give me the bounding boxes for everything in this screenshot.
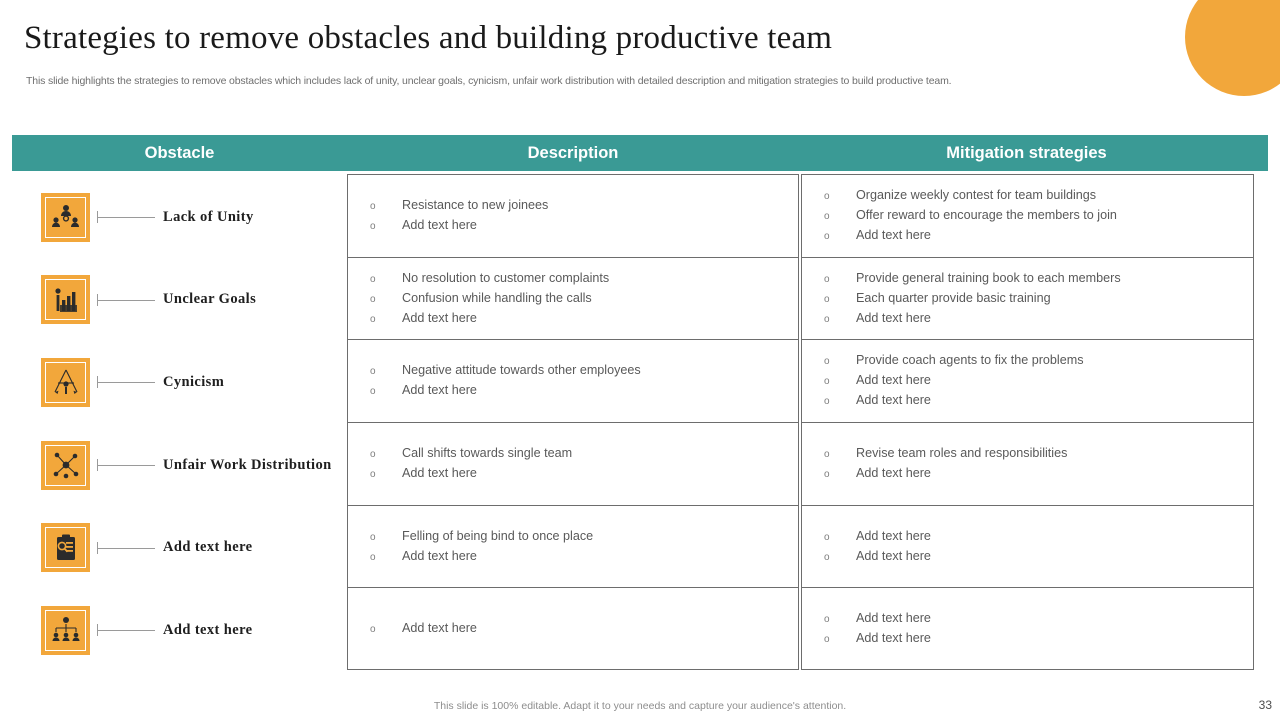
bullet-item: oAdd text here <box>824 629 1253 649</box>
bullet-text: Confusion while handling the calls <box>402 289 592 307</box>
bullet-item: oAdd text here <box>824 371 1253 391</box>
bullet-marker-icon: o <box>370 466 402 484</box>
team-hierarchy-icon <box>41 193 90 242</box>
bullet-item: oOffer reward to encourage the members t… <box>824 206 1253 226</box>
obstacle-label: Add text here <box>163 622 253 639</box>
description-cell: oResistance to new joineesoAdd text here <box>347 174 799 257</box>
bullet-text: Add text here <box>402 619 477 637</box>
description-cell: oNegative attitude towards other employe… <box>347 339 799 422</box>
mitigation-cell: oOrganize weekly contest for team buildi… <box>801 174 1254 257</box>
bullet-marker-icon: o <box>824 311 856 329</box>
bullet-text: Add text here <box>856 527 931 545</box>
column-header-obstacle: Obstacle <box>12 144 347 163</box>
bullet-marker-icon: o <box>824 353 856 371</box>
bullet-marker-icon: o <box>370 446 402 464</box>
bullet-marker-icon: o <box>824 271 856 289</box>
bullet-text: Add text here <box>402 309 477 327</box>
bullet-marker-icon: o <box>370 549 402 567</box>
obstacle-label: Lack of Unity <box>163 209 254 226</box>
connector-line <box>97 294 155 306</box>
bullet-text: Add text here <box>856 226 931 244</box>
bullet-item: oRevise team roles and responsibilities <box>824 444 1253 464</box>
org-chart-icon <box>41 606 90 655</box>
bullet-text: Offer reward to encourage the members to… <box>856 206 1117 224</box>
bullet-item: oProvide general training book to each m… <box>824 269 1253 289</box>
bullet-item: oProvide coach agents to fix the problem… <box>824 351 1253 371</box>
bullet-marker-icon: o <box>824 373 856 391</box>
bullet-item: oNo resolution to customer complaints <box>370 269 798 289</box>
bullet-marker-icon: o <box>370 383 402 401</box>
page-title: Strategies to remove obstacles and build… <box>24 20 832 57</box>
bullet-marker-icon: o <box>824 208 856 226</box>
bullet-marker-icon: o <box>824 466 856 484</box>
bullet-marker-icon: o <box>370 218 402 236</box>
bullet-text: Negative attitude towards other employee… <box>402 361 641 379</box>
network-nodes-icon <box>41 441 90 490</box>
obstacle-label: Unclear Goals <box>163 291 256 308</box>
bullet-marker-icon: o <box>370 529 402 547</box>
bullet-item: oAdd text here <box>824 391 1253 411</box>
bullet-item: oAdd text here <box>824 547 1253 567</box>
obstacle-row: Cynicism <box>12 341 347 424</box>
bullet-marker-icon: o <box>370 621 402 639</box>
description-cell: oCall shifts towards single teamoAdd tex… <box>347 422 799 505</box>
bullet-marker-icon: o <box>824 631 856 649</box>
bullet-text: Organize weekly contest for team buildin… <box>856 186 1096 204</box>
bullet-text: Provide general training book to each me… <box>856 269 1121 287</box>
obstacle-row: Lack of Unity <box>12 176 347 259</box>
bullet-text: Add text here <box>856 629 931 647</box>
bullet-item: oResistance to new joinees <box>370 196 798 216</box>
bullet-marker-icon: o <box>824 228 856 246</box>
bullet-text: Provide coach agents to fix the problems <box>856 351 1084 369</box>
bullet-item: oAdd text here <box>824 309 1253 329</box>
bullet-marker-icon: o <box>370 363 402 381</box>
table-header-bar: Obstacle Description Mitigation strategi… <box>12 135 1268 171</box>
bullet-item: oConfusion while handling the calls <box>370 289 798 309</box>
bullet-text: Add text here <box>402 547 477 565</box>
obstacle-row: Add text here <box>12 589 347 672</box>
obstacle-row: Unclear Goals <box>12 259 347 342</box>
bullet-item: oAdd text here <box>370 216 798 236</box>
bullet-text: Add text here <box>856 609 931 627</box>
bullet-text: Add text here <box>856 391 931 409</box>
bullet-item: oOrganize weekly contest for team buildi… <box>824 186 1253 206</box>
description-cell: oAdd text here <box>347 587 799 670</box>
bullet-marker-icon: o <box>824 393 856 411</box>
bullet-text: Add text here <box>856 309 931 327</box>
bullet-item: oAdd text here <box>370 547 798 567</box>
bullet-item: oAdd text here <box>370 619 798 639</box>
description-cell: oNo resolution to customer complaintsoCo… <box>347 257 799 340</box>
connector-line <box>97 459 155 471</box>
bullet-marker-icon: o <box>370 198 402 216</box>
connector-line <box>97 376 155 388</box>
bullet-text: Add text here <box>402 216 477 234</box>
bullet-text: Add text here <box>402 381 477 399</box>
bullet-marker-icon: o <box>370 311 402 329</box>
mitigation-column: oOrganize weekly contest for team buildi… <box>801 174 1254 670</box>
obstacle-row: Add text here <box>12 506 347 589</box>
footer-note: This slide is 100% editable. Adapt it to… <box>0 700 1280 712</box>
bullet-item: oAdd text here <box>370 309 798 329</box>
bullet-item: oAdd text here <box>824 527 1253 547</box>
bullet-text: Call shifts towards single team <box>402 444 572 462</box>
bullet-item: oAdd text here <box>370 464 798 484</box>
mitigation-cell: oProvide coach agents to fix the problem… <box>801 339 1254 422</box>
bullet-text: Add text here <box>856 547 931 565</box>
bullet-item: oEach quarter provide basic training <box>824 289 1253 309</box>
bullet-text: Add text here <box>856 371 931 389</box>
obstacle-label: Cynicism <box>163 374 224 391</box>
mitigation-cell: oProvide general training book to each m… <box>801 257 1254 340</box>
person-arrows-icon <box>41 358 90 407</box>
decorative-circle <box>1185 0 1280 96</box>
bullet-item: oAdd text here <box>370 381 798 401</box>
connector-line <box>97 542 155 554</box>
bullet-marker-icon: o <box>824 291 856 309</box>
bullet-text: Each quarter provide basic training <box>856 289 1051 307</box>
bullet-item: oCall shifts towards single team <box>370 444 798 464</box>
bullet-text: Felling of being bind to once place <box>402 527 593 545</box>
bullet-marker-icon: o <box>824 529 856 547</box>
bullet-marker-icon: o <box>370 271 402 289</box>
bullet-item: oNegative attitude towards other employe… <box>370 361 798 381</box>
bullet-item: oAdd text here <box>824 609 1253 629</box>
bullet-item: oAdd text here <box>824 226 1253 246</box>
bullet-text: Add text here <box>402 464 477 482</box>
connector-line <box>97 211 155 223</box>
connector-line <box>97 624 155 636</box>
mitigation-cell: oAdd text hereoAdd text here <box>801 505 1254 588</box>
bullet-marker-icon: o <box>370 291 402 309</box>
description-cell: oFelling of being bind to once placeoAdd… <box>347 505 799 588</box>
bullet-marker-icon: o <box>824 549 856 567</box>
page-number: 33 <box>1259 698 1272 712</box>
bullet-text: Add text here <box>856 464 931 482</box>
mitigation-cell: oAdd text hereoAdd text here <box>801 587 1254 670</box>
bullet-text: No resolution to customer complaints <box>402 269 609 287</box>
obstacle-column: Lack of Unity Unclear Goals Cynicism Unf… <box>12 176 347 672</box>
bullet-text: Resistance to new joinees <box>402 196 548 214</box>
obstacle-row: Unfair Work Distribution <box>12 424 347 507</box>
page-subtitle: This slide highlights the strategies to … <box>26 74 1146 88</box>
bullet-marker-icon: o <box>824 188 856 206</box>
clipboard-search-icon <box>41 523 90 572</box>
bullet-text: Revise team roles and responsibilities <box>856 444 1067 462</box>
obstacle-label: Add text here <box>163 539 253 556</box>
description-column: oResistance to new joineesoAdd text here… <box>347 174 799 670</box>
person-chart-icon <box>41 275 90 324</box>
bullet-item: oFelling of being bind to once place <box>370 527 798 547</box>
column-header-mitigation: Mitigation strategies <box>799 144 1254 163</box>
mitigation-cell: oRevise team roles and responsibilitieso… <box>801 422 1254 505</box>
column-header-description: Description <box>347 144 799 163</box>
bullet-marker-icon: o <box>824 446 856 464</box>
bullet-item: oAdd text here <box>824 464 1253 484</box>
obstacle-label: Unfair Work Distribution <box>163 457 332 474</box>
bullet-marker-icon: o <box>824 611 856 629</box>
